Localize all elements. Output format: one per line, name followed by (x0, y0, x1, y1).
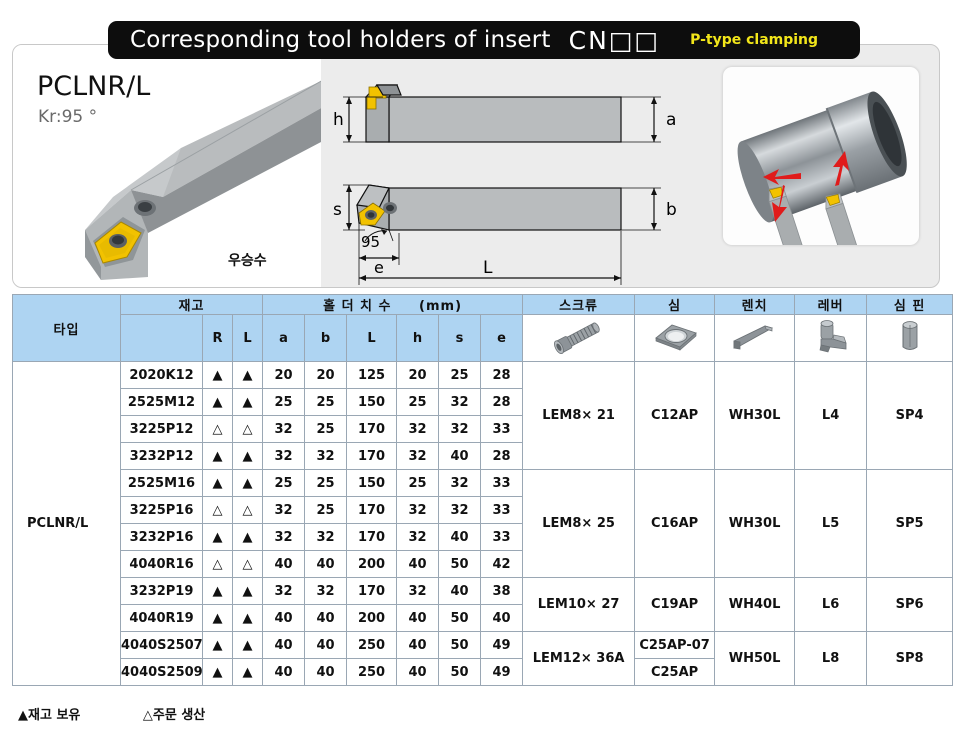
row-code: 3232P16 (121, 524, 203, 551)
row-dim-a: 40 (263, 632, 305, 659)
row-dim-s: 32 (439, 416, 481, 443)
row-stock-r: ▲ (203, 605, 233, 632)
row-dim-L: 125 (347, 362, 397, 389)
row-dim-L: 250 (347, 659, 397, 686)
type-name-cell: PCLNR/L (13, 362, 121, 686)
screw-icon (539, 316, 619, 356)
shim-icon-cell (635, 315, 715, 362)
shim-pin-icon-cell (867, 315, 953, 362)
row-dim-s: 40 (439, 578, 481, 605)
group-shim: C12AP (635, 362, 715, 470)
header-col-L: L (347, 315, 397, 362)
row-dim-h: 25 (397, 389, 439, 416)
row-dim-s: 25 (439, 362, 481, 389)
row-stock-l: ▲ (233, 578, 263, 605)
row-code: 4040R19 (121, 605, 203, 632)
row-dim-b: 20 (305, 362, 347, 389)
header-wrench: 렌치 (715, 295, 795, 315)
table-body: PCLNR/L 2020K12 ▲ ▲ 20 20 125 20 25 28 L… (13, 362, 953, 686)
row-stock-r: ▲ (203, 362, 233, 389)
row-dim-a: 32 (263, 416, 305, 443)
tool-holder-3d-illustration (13, 45, 321, 288)
row-dim-L: 250 (347, 632, 397, 659)
row-dim-a: 25 (263, 389, 305, 416)
row-dim-h: 40 (397, 659, 439, 686)
application-photo-card (723, 67, 919, 245)
header-blank-code (121, 315, 203, 362)
header-holder-dims: 홀 더 치 수 (mm) (263, 295, 523, 315)
table-row[interactable]: PCLNR/L 2020K12 ▲ ▲ 20 20 125 20 25 28 L… (13, 362, 953, 389)
row-dim-L: 200 (347, 605, 397, 632)
header-col-R: R (203, 315, 233, 362)
row-code: 4040S2507 (121, 632, 203, 659)
header-col-e: e (481, 315, 523, 362)
row-dim-e: 49 (481, 632, 523, 659)
row-stock-l: ▲ (233, 389, 263, 416)
row-dim-h: 20 (397, 362, 439, 389)
dimension-label-a: a (666, 110, 676, 130)
group-screw: LEM8× 21 (523, 362, 635, 470)
row-dim-a: 32 (263, 443, 305, 470)
group-shim-pin: SP8 (867, 632, 953, 686)
group-lever: L6 (795, 578, 867, 632)
turning-application-illustration (723, 67, 919, 245)
dimension-label-L: L (483, 258, 493, 278)
row-dim-e: 33 (481, 497, 523, 524)
group-shim-pin: SP6 (867, 578, 953, 632)
row-code: 3232P19 (121, 578, 203, 605)
clamping-type-label: P-type clamping (690, 32, 818, 48)
row-dim-s: 50 (439, 551, 481, 578)
group-shim-pin: SP5 (867, 470, 953, 578)
row-dim-a: 32 (263, 524, 305, 551)
row-dim-e: 33 (481, 470, 523, 497)
row-dim-b: 25 (305, 389, 347, 416)
row-dim-s: 50 (439, 632, 481, 659)
row-code: 2525M16 (121, 470, 203, 497)
row-stock-l: ▲ (233, 659, 263, 686)
row-stock-r: ▲ (203, 443, 233, 470)
row-stock-l: ▲ (233, 524, 263, 551)
row-code: 3225P16 (121, 497, 203, 524)
row-dim-e: 28 (481, 362, 523, 389)
group-shim-bottom: C25AP (635, 659, 715, 686)
row-dim-h: 32 (397, 443, 439, 470)
row-dim-h: 32 (397, 416, 439, 443)
row-dim-b: 25 (305, 470, 347, 497)
header-holder-dims-text: 홀 더 치 수 (323, 299, 391, 314)
row-dim-a: 32 (263, 497, 305, 524)
row-dim-e: 40 (481, 605, 523, 632)
header-unit: (mm) (419, 299, 462, 314)
row-dim-s: 32 (439, 389, 481, 416)
row-stock-r: ▲ (203, 470, 233, 497)
row-dim-h: 40 (397, 605, 439, 632)
row-stock-r: ▲ (203, 632, 233, 659)
page-header-bar: Corresponding tool holders of insert CN□… (108, 21, 860, 59)
row-dim-b: 40 (305, 659, 347, 686)
row-stock-l: △ (233, 497, 263, 524)
row-stock-l: ▲ (233, 443, 263, 470)
row-dim-e: 28 (481, 389, 523, 416)
specification-table: 타입 재고 홀 더 치 수 (mm) 스크류 심 렌치 레버 심 핀 R L a… (12, 294, 953, 686)
row-dim-e: 28 (481, 443, 523, 470)
insert-code: CN□□ (569, 26, 660, 55)
row-code: 2525M12 (121, 389, 203, 416)
table-row[interactable]: 4040S2507 ▲ ▲ 40 40 250 40 50 49 LEM12× … (13, 632, 953, 659)
header-type: 타입 (13, 295, 121, 362)
row-dim-s: 32 (439, 470, 481, 497)
row-dim-a: 32 (263, 578, 305, 605)
group-wrench: WH30L (715, 470, 795, 578)
legend: ▲재고 보유 △주문 생산 (18, 704, 205, 723)
wrench-icon-cell (715, 315, 795, 362)
header-col-h: h (397, 315, 439, 362)
group-shim-pin: SP4 (867, 362, 953, 470)
row-dim-s: 50 (439, 605, 481, 632)
row-stock-l: ▲ (233, 632, 263, 659)
row-dim-h: 40 (397, 632, 439, 659)
row-dim-L: 170 (347, 443, 397, 470)
row-dim-b: 32 (305, 578, 347, 605)
row-dim-h: 40 (397, 551, 439, 578)
row-dim-L: 170 (347, 524, 397, 551)
row-stock-r: ▲ (203, 659, 233, 686)
row-dim-s: 32 (439, 497, 481, 524)
group-lever: L4 (795, 362, 867, 470)
row-stock-r: ▲ (203, 524, 233, 551)
row-stock-r: △ (203, 497, 233, 524)
row-dim-s: 40 (439, 524, 481, 551)
handedness-label: 우승수 (228, 250, 267, 270)
group-screw: LEM8× 25 (523, 470, 635, 578)
header-screw: 스크류 (523, 295, 635, 315)
row-dim-h: 32 (397, 497, 439, 524)
lever-icon-cell (795, 315, 867, 362)
row-dim-a: 40 (263, 659, 305, 686)
row-dim-e: 42 (481, 551, 523, 578)
page-title: Corresponding tool holders of insert (130, 27, 551, 53)
table-header-row-2: R L a b L h s e (13, 315, 953, 362)
dimension-label-b: b (666, 200, 677, 220)
legend-in-stock: ▲재고 보유 (18, 708, 80, 723)
lever-icon (800, 316, 862, 356)
group-screw: LEM12× 36A (523, 632, 635, 686)
row-dim-h: 32 (397, 524, 439, 551)
row-dim-h: 32 (397, 578, 439, 605)
group-lever: L8 (795, 632, 867, 686)
group-wrench: WH40L (715, 578, 795, 632)
header-col-L-stock: L (233, 315, 263, 362)
group-shim: C16AP (635, 470, 715, 578)
row-code: 4040R16 (121, 551, 203, 578)
illustration-panel: PCLNR/L Kr:95 ° (12, 44, 940, 288)
row-dim-a: 40 (263, 551, 305, 578)
row-stock-r: △ (203, 416, 233, 443)
header-shim-pin: 심 핀 (867, 295, 953, 315)
technical-dimension-drawing: h a s b 95 e L (321, 45, 711, 288)
product-render-panel: PCLNR/L Kr:95 ° (13, 45, 321, 287)
row-dim-a: 20 (263, 362, 305, 389)
row-dim-e: 49 (481, 659, 523, 686)
row-dim-s: 40 (439, 443, 481, 470)
row-stock-r: ▲ (203, 389, 233, 416)
group-lever: L5 (795, 470, 867, 578)
table-header-row-1: 타입 재고 홀 더 치 수 (mm) 스크류 심 렌치 레버 심 핀 (13, 295, 953, 315)
header-col-a: a (263, 315, 305, 362)
row-stock-l: △ (233, 551, 263, 578)
row-dim-a: 25 (263, 470, 305, 497)
row-stock-l: △ (233, 416, 263, 443)
group-shim-top: C25AP-07 (635, 632, 715, 659)
header-stock: 재고 (121, 295, 263, 315)
header-col-b: b (305, 315, 347, 362)
table-row[interactable]: 2525M16 ▲ ▲ 25 25 150 25 32 33 LEM8× 25 … (13, 470, 953, 497)
row-stock-r: ▲ (203, 578, 233, 605)
row-dim-b: 32 (305, 524, 347, 551)
row-dim-b: 40 (305, 605, 347, 632)
dimension-label-h: h (333, 110, 344, 130)
dimension-label-s: s (333, 200, 342, 220)
dimension-label-e: e (374, 258, 384, 277)
row-stock-l: ▲ (233, 470, 263, 497)
row-code: 2020K12 (121, 362, 203, 389)
row-dim-b: 25 (305, 416, 347, 443)
row-dim-L: 170 (347, 578, 397, 605)
row-dim-L: 150 (347, 389, 397, 416)
row-code: 3232P12 (121, 443, 203, 470)
row-stock-r: △ (203, 551, 233, 578)
header-lever: 레버 (795, 295, 867, 315)
header-col-s: s (439, 315, 481, 362)
row-dim-b: 32 (305, 443, 347, 470)
legend-made-to-order: △주문 생산 (143, 708, 205, 723)
angle-label-95: 95 (361, 233, 380, 251)
row-stock-l: ▲ (233, 362, 263, 389)
row-dim-s: 50 (439, 659, 481, 686)
screw-icon-cell (523, 315, 635, 362)
application-photo-panel (711, 45, 940, 287)
row-dim-e: 33 (481, 524, 523, 551)
dimension-drawing-panel: h a s b 95 e L (321, 45, 711, 287)
row-code: 4040S2509 (121, 659, 203, 686)
row-dim-L: 150 (347, 470, 397, 497)
group-wrench: WH30L (715, 362, 795, 470)
row-dim-e: 38 (481, 578, 523, 605)
row-code: 3225P12 (121, 416, 203, 443)
row-dim-L: 170 (347, 497, 397, 524)
row-dim-a: 40 (263, 605, 305, 632)
row-dim-b: 40 (305, 551, 347, 578)
row-stock-l: ▲ (233, 605, 263, 632)
row-dim-b: 25 (305, 497, 347, 524)
row-dim-L: 200 (347, 551, 397, 578)
group-screw: LEM10× 27 (523, 578, 635, 632)
row-dim-b: 40 (305, 632, 347, 659)
group-wrench: WH50L (715, 632, 795, 686)
table-row[interactable]: 3232P19 ▲ ▲ 32 32 170 32 40 38 LEM10× 27… (13, 578, 953, 605)
header-shim: 심 (635, 295, 715, 315)
group-shim: C19AP (635, 578, 715, 632)
row-dim-L: 170 (347, 416, 397, 443)
wrench-icon (720, 316, 790, 356)
shim-pin-icon (877, 316, 943, 356)
shim-icon (640, 316, 710, 356)
row-dim-h: 25 (397, 470, 439, 497)
row-dim-e: 33 (481, 416, 523, 443)
